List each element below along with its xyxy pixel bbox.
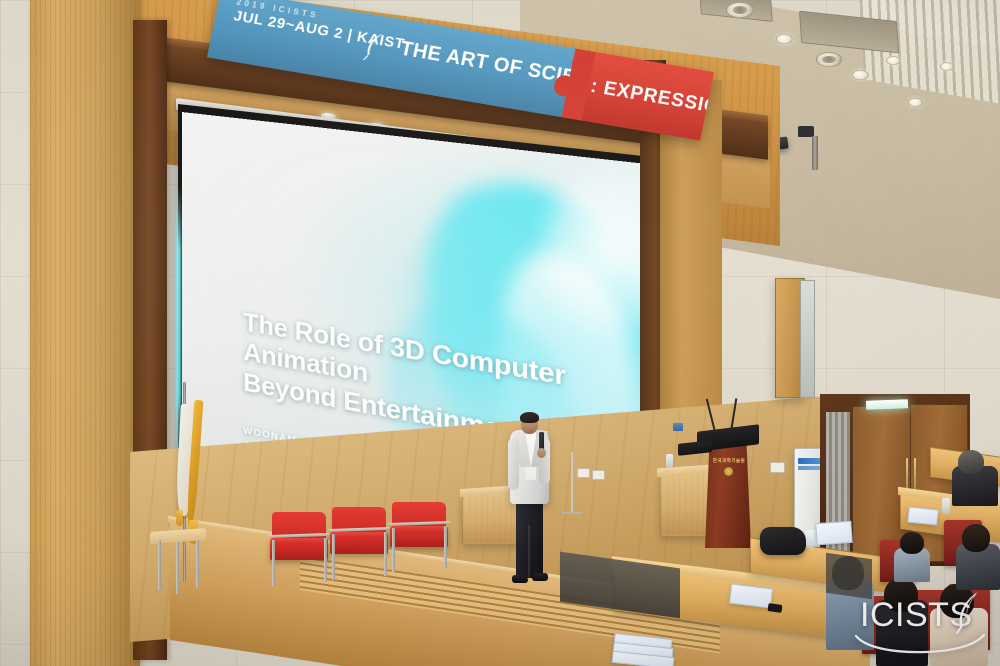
lecture-hall-photo: The Role of 3D Computer Animation Beyond… xyxy=(0,0,1000,666)
ceiling-speaker-2-icon xyxy=(816,52,842,67)
air-purifier-badge-2 xyxy=(798,466,822,470)
mic-stand-base xyxy=(562,512,582,514)
wall-conduit xyxy=(812,136,818,170)
audience-cup xyxy=(806,530,815,548)
stool-leg xyxy=(158,540,161,590)
audience-handout-2 xyxy=(907,506,939,525)
mic-stand-pole xyxy=(571,452,573,514)
wall-outlet xyxy=(577,468,590,478)
audience-bottle-2 xyxy=(942,498,950,514)
stool-leg xyxy=(176,542,179,594)
banner-subtitle: : EXPRESSION xyxy=(588,76,714,122)
stool-leg xyxy=(196,540,199,588)
left-column-grain xyxy=(30,0,140,666)
ceiling-downlight xyxy=(940,62,954,71)
podium-emblem-icon xyxy=(724,467,733,476)
ceiling-downlight xyxy=(852,70,869,80)
ceiling-downlight xyxy=(776,34,793,44)
wall-sign xyxy=(673,423,683,431)
audience-paper-stack xyxy=(815,521,852,545)
water-bottle xyxy=(666,454,673,468)
flag-tassel-2 xyxy=(176,510,183,526)
ceiling-downlight xyxy=(908,98,923,107)
door-exit-light xyxy=(866,399,908,409)
air-purifier-badge xyxy=(798,458,822,464)
podium-nameplate: 한국과학기술원 xyxy=(710,458,748,464)
ceiling-downlight xyxy=(886,56,901,65)
wall-outlet xyxy=(592,470,605,480)
audience-bag xyxy=(760,527,806,555)
wall-speaker-face xyxy=(800,280,815,398)
wall-outlet xyxy=(770,462,785,473)
aisle-floor-2 xyxy=(826,553,872,599)
ceiling-speaker-icon xyxy=(726,2,754,18)
